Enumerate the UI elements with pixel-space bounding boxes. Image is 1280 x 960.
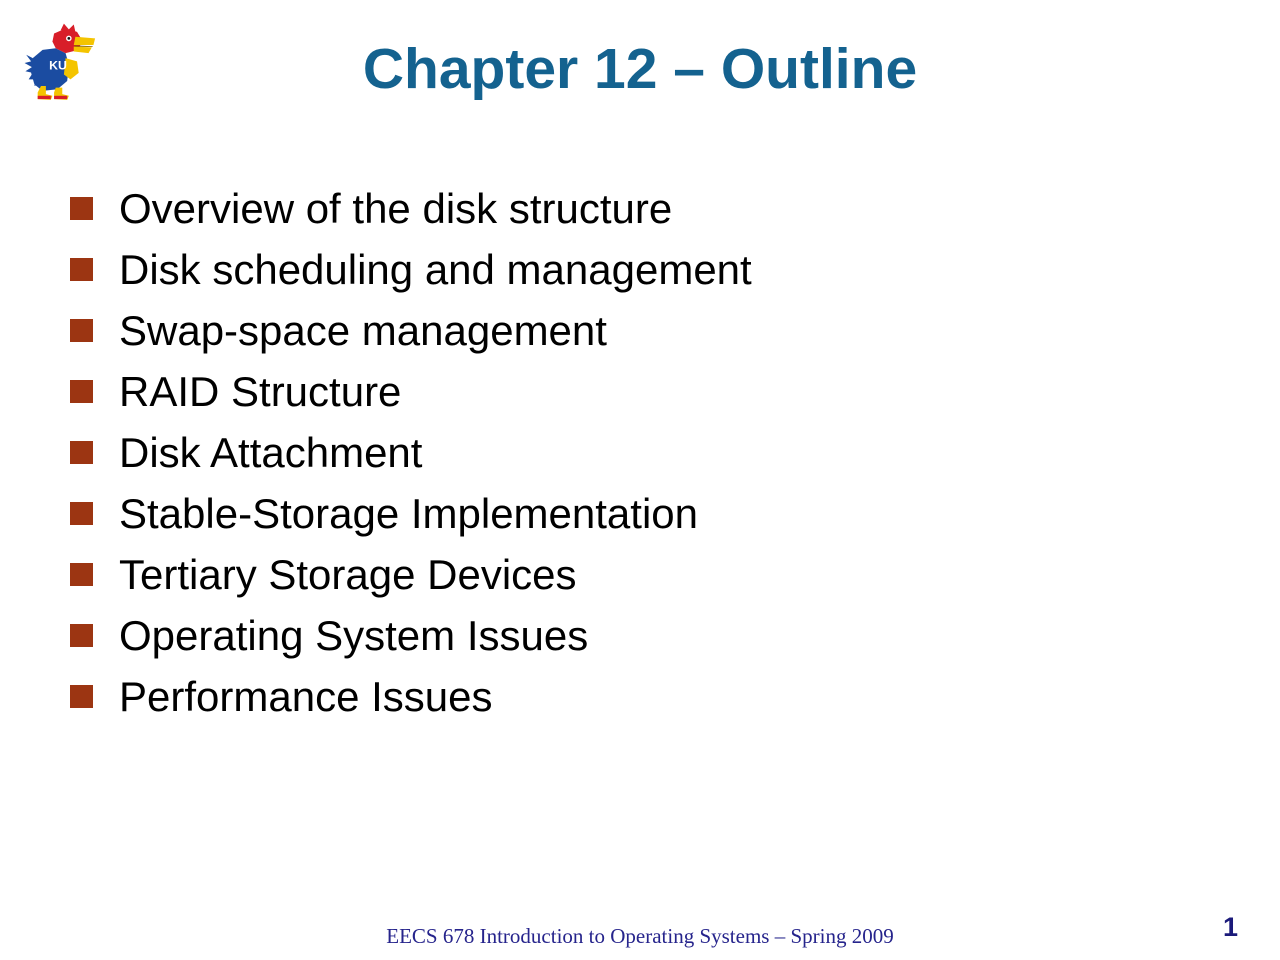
outline-bullet-list: Overview of the disk structure Disk sche… <box>70 185 1210 734</box>
list-item: RAID Structure <box>70 368 1210 429</box>
list-item: Disk scheduling and management <box>70 246 1210 307</box>
footer-course-note: EECS 678 Introduction to Operating Syste… <box>0 924 1280 949</box>
list-item-label: Overview of the disk structure <box>119 185 1210 233</box>
list-item: Performance Issues <box>70 673 1210 734</box>
list-item-label: Performance Issues <box>119 673 1210 721</box>
presentation-slide: KU Chapter 12 – Outline Overview of the … <box>0 0 1280 960</box>
slide-title: Chapter 12 – Outline <box>0 36 1280 103</box>
square-bullet-icon <box>70 380 93 403</box>
list-item: Disk Attachment <box>70 429 1210 490</box>
list-item: Overview of the disk structure <box>70 185 1210 246</box>
list-item-label: Stable-Storage Implementation <box>119 490 1210 538</box>
square-bullet-icon <box>70 563 93 586</box>
square-bullet-icon <box>70 319 93 342</box>
list-item-label: Disk Attachment <box>119 429 1210 477</box>
square-bullet-icon <box>70 441 93 464</box>
square-bullet-icon <box>70 197 93 220</box>
list-item-label: Swap-space management <box>119 307 1210 355</box>
page-number: 1 <box>1223 912 1238 943</box>
list-item-label: RAID Structure <box>119 368 1210 416</box>
list-item: Tertiary Storage Devices <box>70 551 1210 612</box>
square-bullet-icon <box>70 685 93 708</box>
list-item: Operating System Issues <box>70 612 1210 673</box>
square-bullet-icon <box>70 258 93 281</box>
list-item: Swap-space management <box>70 307 1210 368</box>
list-item-label: Operating System Issues <box>119 612 1210 660</box>
list-item-label: Disk scheduling and management <box>119 246 1210 294</box>
square-bullet-icon <box>70 624 93 647</box>
square-bullet-icon <box>70 502 93 525</box>
list-item: Stable-Storage Implementation <box>70 490 1210 551</box>
list-item-label: Tertiary Storage Devices <box>119 551 1210 599</box>
